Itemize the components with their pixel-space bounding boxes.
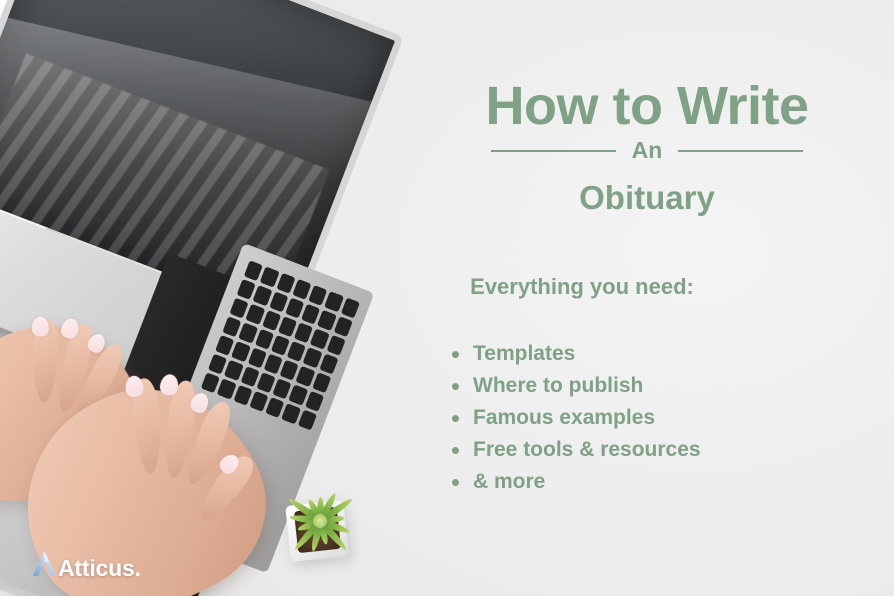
logo-wordmark: Atticus <box>58 557 135 580</box>
feature-list: TemplatesWhere to publishFamous examples… <box>452 338 701 498</box>
list-item-label: Templates <box>473 338 575 370</box>
page-subtitle: Obituary <box>400 181 894 214</box>
bullet-dot-icon <box>452 479 459 486</box>
list-item: Famous examples <box>452 402 701 434</box>
text-content: How to Write An Obituary Everything you … <box>400 0 894 596</box>
list-item-label: Free tools & resources <box>473 434 701 466</box>
list-item-label: Famous examples <box>473 402 655 434</box>
succulent-center <box>313 514 327 528</box>
bullet-dot-icon <box>452 415 459 422</box>
list-item: Free tools & resources <box>452 434 701 466</box>
page-title: How to Write <box>400 79 894 133</box>
logo-period: . <box>135 555 141 582</box>
headline-connector: An <box>632 139 663 162</box>
atticus-mark-icon <box>33 551 57 576</box>
poster-canvas: How to Write An Obituary Everything you … <box>0 0 894 596</box>
list-item: Templates <box>452 338 701 370</box>
list-item: & more <box>452 466 701 498</box>
headline-connector-row: An <box>400 139 894 162</box>
succulent-plant <box>292 487 348 557</box>
divider-rule-right <box>678 150 803 152</box>
bullet-dot-icon <box>452 351 459 358</box>
divider-rule-left <box>491 150 616 152</box>
bullet-dot-icon <box>452 447 459 454</box>
lead-heading: Everything you need: <box>400 276 764 298</box>
atticus-logo[interactable]: Atticus . <box>33 551 141 582</box>
desk-flatlay-photo <box>0 0 420 596</box>
list-item-label: & more <box>473 466 545 498</box>
list-item: Where to publish <box>452 370 701 402</box>
list-item-label: Where to publish <box>473 370 643 402</box>
bullet-dot-icon <box>452 383 459 390</box>
